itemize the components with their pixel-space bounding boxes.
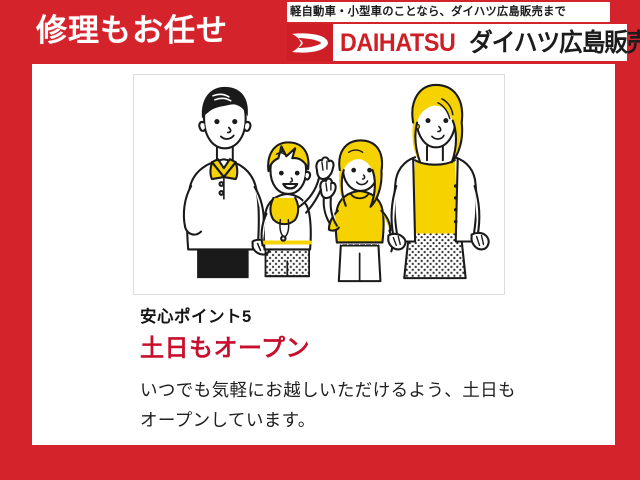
subheadline: 土日もオープン [140,334,560,364]
dealer-name: ダイハツ広島販売 [469,30,640,56]
page-title: 修理もお任せ [36,11,228,51]
text-block: 安心ポイント5 土日もオープン いつでも気軽にお越しいただけるよう、土日もオープ… [140,306,560,435]
header: 修理もお任せ 軽自動車・小型車のことなら、ダイハツ広島販売まで DAIHATSU… [0,0,640,64]
illustration-frame [133,74,505,295]
body-copy: いつでも気軽にお越しいただけるよう、土日もオープンしています。 [140,375,530,435]
content-card: 安心ポイント5 土日もオープン いつでも気軽にお越しいただけるよう、土日もオープ… [32,64,615,445]
advertisement-frame: 修理もお任せ 軽自動車・小型車のことなら、ダイハツ広島販売まで DAIHATSU… [0,0,640,480]
tagline-text: 軽自動車・小型車のことなら、ダイハツ広島販売まで [290,4,566,20]
daihatsu-d-emblem-icon [287,24,333,61]
family-illustration [134,75,504,294]
daihatsu-wordmark: DAIHATSU [340,30,455,56]
tagline-band: 軽自動車・小型車のことなら、ダイハツ広島販売まで [287,2,610,22]
brand-logo-band: DAIHATSU ダイハツ広島販売 [287,24,627,61]
eyebrow-label: 安心ポイント5 [140,306,560,328]
